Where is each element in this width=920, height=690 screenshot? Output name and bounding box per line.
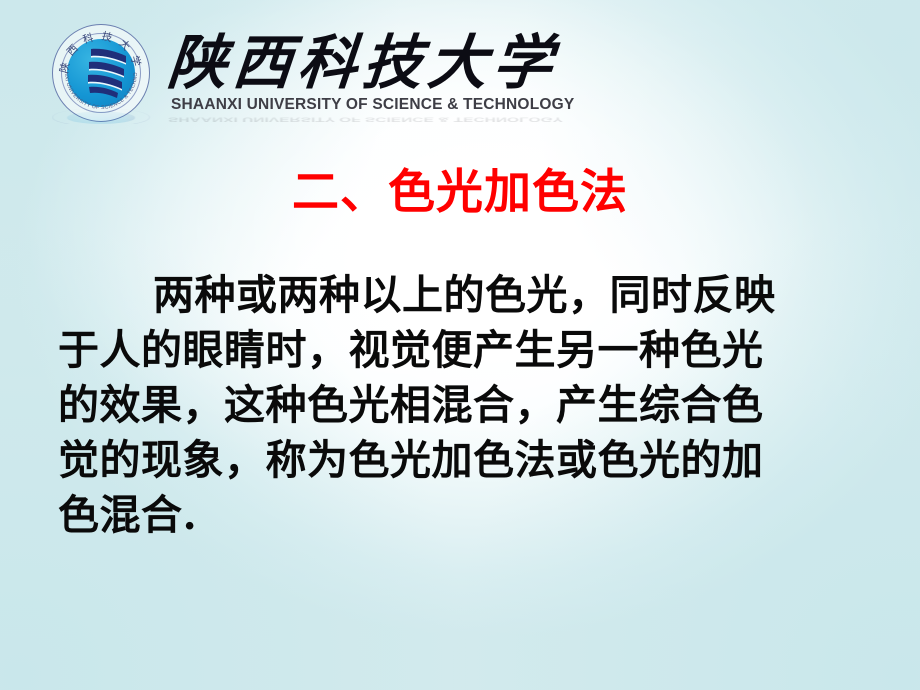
body-line: 的效果，这种色光相混合，产生综合色: [58, 378, 858, 433]
presentation-slide: 陕西科技大学 SHAANXI UNIVERSITY OF SCIENCE & T…: [0, 0, 920, 690]
university-name-chinese: 陕西科技大学: [165, 32, 577, 93]
university-seal-icon: 陕西科技大学 SHAANXI UNIVERSITY OF SCIENCE & T…: [52, 24, 150, 122]
university-name-block: 陕西科技大学 SHAANXI UNIVERSITY OF SCIENCE & T…: [168, 32, 574, 114]
svg-text:陕西科技大学: 陕西科技大学: [57, 29, 145, 74]
university-logo-lockup: 陕西科技大学 SHAANXI UNIVERSITY OF SCIENCE & T…: [52, 24, 574, 122]
slide-header: 陕西科技大学 SHAANXI UNIVERSITY OF SCIENCE & T…: [0, 0, 920, 152]
body-line: 两种或两种以上的色光，同时反映: [58, 268, 858, 323]
body-line: 觉的现象，称为色光加色法或色光的加: [58, 433, 858, 488]
body-paragraph: 两种或两种以上的色光，同时反映 于人的眼睛时，视觉便产生另一种色光 的效果，这种…: [58, 268, 858, 543]
page-title: 二、色光加色法: [0, 167, 920, 220]
seal-ring-text: 陕西科技大学 SHAANXI UNIVERSITY OF SCIENCE & T…: [52, 24, 150, 122]
university-name-english: SHAANXI UNIVERSITY OF SCIENCE & TECHNOLO…: [171, 96, 574, 114]
body-line: 色混合.: [58, 488, 858, 543]
body-line: 于人的眼睛时，视觉便产生另一种色光: [58, 323, 858, 378]
